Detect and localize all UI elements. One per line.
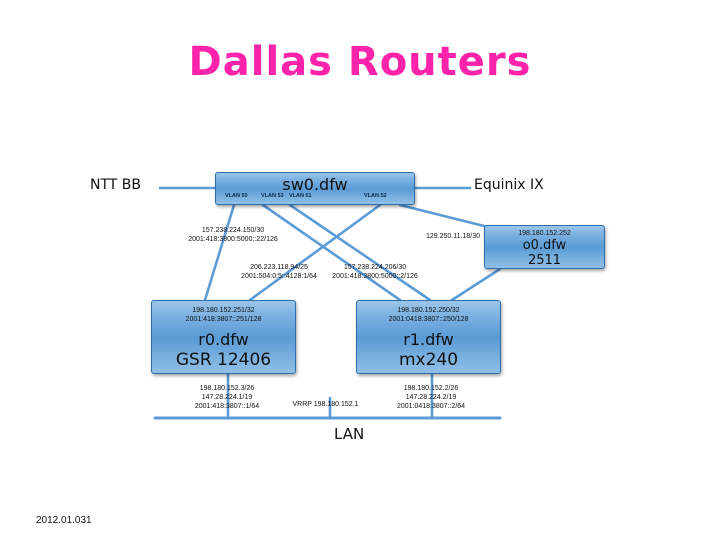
edge-label-r1-lan-ipv4-b: 147.28.224.2/19 bbox=[366, 393, 496, 402]
edge-label-o0-uplink-ipv4: 129.250.11.18/30 bbox=[398, 232, 508, 241]
vlan-label-51: VLAN 51 bbox=[289, 193, 312, 200]
node-r1-ipv4: 198.180.152.250/32 bbox=[357, 306, 500, 315]
edge-label-r1-lan-ipv4-a: 198.180.152.2/26 bbox=[366, 384, 496, 393]
edge-label-ntt-r0-ipv6: 2001:418:3800:5000::22/126 bbox=[163, 235, 303, 244]
edge-label-r0-lan-ipv4-a: 198.180.152.3/26 bbox=[162, 384, 292, 393]
node-sw0-dfw[interactable]: sw0.dfw VLAN 50 VLAN 53 VLAN 51 VLAN 52 bbox=[215, 172, 415, 205]
link-o0-to-r1 bbox=[452, 269, 500, 300]
edge-label-ntt-r0-ipv4: 157.238.224.150/30 bbox=[163, 226, 303, 235]
node-r0-ipv4: 198.180.152.251/32 bbox=[152, 306, 295, 315]
node-r1-model: mx240 bbox=[357, 350, 500, 371]
link-vlan52-to-r0 bbox=[250, 205, 380, 300]
link-sw0-to-o0 bbox=[400, 205, 492, 228]
node-r1-name: r1.dfw bbox=[357, 330, 500, 350]
edge-label-vrrp: VRRP 198.180.152.1 bbox=[268, 400, 383, 409]
vlan-label-53: VLAN 53 bbox=[261, 193, 284, 200]
page-title: Dallas Routers bbox=[0, 38, 720, 86]
node-r0-model: GSR 12406 bbox=[152, 350, 295, 371]
node-r0-name: r0.dfw bbox=[152, 330, 295, 350]
slide-canvas: Dallas Routers NT bbox=[0, 0, 720, 540]
edge-label-r1-lan: 198.180.152.2/26 147.28.224.2/19 2001:04… bbox=[366, 384, 496, 411]
node-sw0-name: sw0.dfw bbox=[216, 173, 414, 194]
node-r0-dfw[interactable]: 198.180.152.251/32 2001:418:3807::251/12… bbox=[151, 300, 296, 374]
link-vlan53-to-r1 bbox=[263, 205, 400, 300]
node-r0-ipv6: 2001:418:3807::251/128 bbox=[152, 315, 295, 324]
link-vlan51-to-r1 bbox=[290, 205, 430, 300]
external-label-lan: LAN bbox=[334, 425, 364, 444]
edge-label-r1-lan-ipv6: 2001:0418:3807::2/64 bbox=[366, 402, 496, 411]
edge-label-o0-uplink: 129.250.11.18/30 bbox=[398, 232, 508, 241]
edge-label-ntt-r0: 157.238.224.150/30 2001:418:3800:5000::2… bbox=[163, 226, 303, 244]
link-vlan50-to-r0 bbox=[205, 205, 234, 300]
vlan-label-50: VLAN 50 bbox=[225, 193, 248, 200]
vlan-port-row: VLAN 50 VLAN 53 VLAN 51 VLAN 52 bbox=[216, 193, 414, 202]
footer-date: 2012.01.031 bbox=[36, 514, 92, 527]
edge-label-equinix-r0-ipv4: 206.223.118.94/25 bbox=[229, 263, 329, 272]
external-label-equinix-ix: Equinix IX bbox=[474, 176, 544, 194]
node-r1-ipv6: 2001:0418:3807::250/128 bbox=[357, 315, 500, 324]
edge-label-equinix-r0-ipv6: 2001:504:0:5::4128:1/64 bbox=[229, 272, 329, 281]
node-r1-dfw[interactable]: 198.180.152.250/32 2001:0418:3807::250/1… bbox=[356, 300, 501, 374]
node-o0-model: 2511 bbox=[485, 253, 604, 268]
edge-label-ntt-r1: 157.238.224.206/30 2001:418:3800:5000::2… bbox=[315, 263, 435, 281]
edge-label-equinix-r0: 206.223.118.94/25 2001:504:0:5::4128:1/6… bbox=[229, 263, 329, 281]
external-label-ntt-bb: NTT BB bbox=[90, 176, 141, 194]
edge-label-ntt-r1-ipv4: 157.238.224.206/30 bbox=[315, 263, 435, 272]
vlan-label-52: VLAN 52 bbox=[364, 193, 387, 200]
edge-label-ntt-r1-ipv6: 2001:418:3800:5000::2/126 bbox=[315, 272, 435, 281]
